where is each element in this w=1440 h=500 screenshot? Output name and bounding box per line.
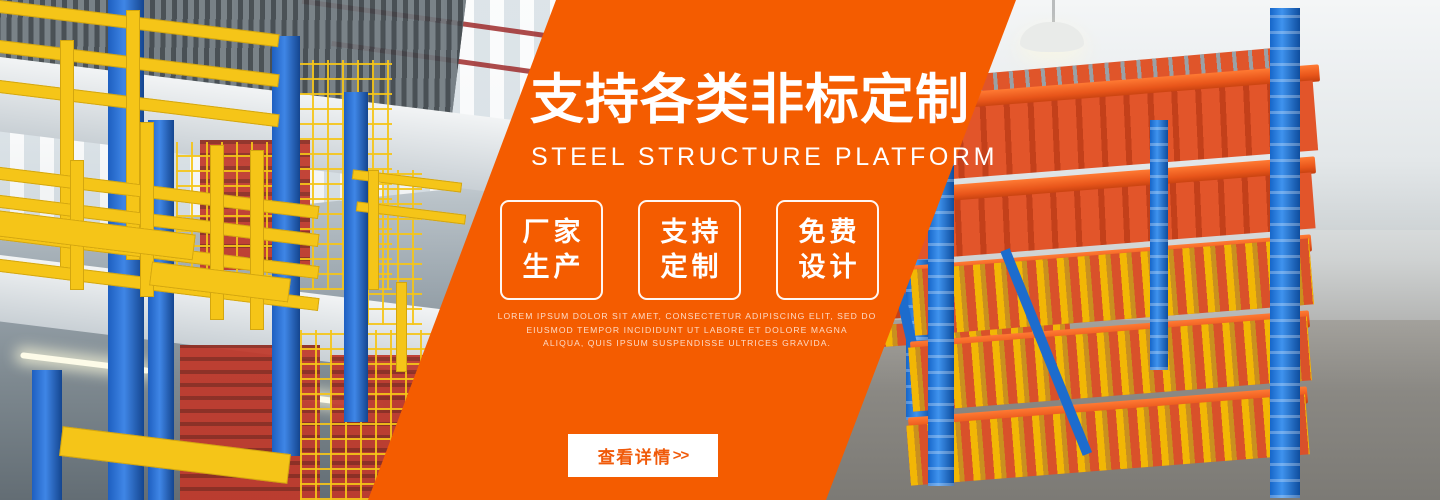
feature-badge-line1: 支持 <box>657 217 723 248</box>
feature-badge-free-design: 免费 设计 <box>776 200 879 300</box>
double-chevron-right-icon: >> <box>673 447 689 464</box>
view-details-button[interactable]: 查看详情 >> <box>568 434 718 477</box>
promo-banner: 支持各类非标定制 STEEL STRUCTURE PLATFORM 厂家 生产 … <box>0 0 1440 500</box>
feature-badge-line1: 厂家 <box>519 217 585 248</box>
description-text: LOREM IPSUM DOLOR SIT AMET, CONSECTETUR … <box>490 310 884 351</box>
view-details-label: 查看详情 <box>598 443 672 468</box>
banner-content: 支持各类非标定制 STEEL STRUCTURE PLATFORM 厂家 生产 … <box>0 0 1440 500</box>
page-title: 支持各类非标定制 <box>530 72 1000 128</box>
feature-badge-list: 厂家 生产 支持 定制 免费 设计 <box>500 200 879 300</box>
feature-badge-line2: 生产 <box>519 252 585 283</box>
feature-badge-customization: 支持 定制 <box>638 200 741 300</box>
feature-badge-line2: 设计 <box>795 252 861 283</box>
feature-badge-line1: 免费 <box>795 217 861 248</box>
subtitle: STEEL STRUCTURE PLATFORM <box>531 143 998 172</box>
description-line: ALIQUA, QUIS IPSUM SUSPENDISSE ULTRICES … <box>490 337 884 351</box>
description-line: LOREM IPSUM DOLOR SIT AMET, CONSECTETUR … <box>490 310 884 324</box>
feature-badge-manufacturer: 厂家 生产 <box>500 200 603 300</box>
description-line: EIUSMOD TEMPOR INCIDIDUNT UT LABORE ET D… <box>490 324 884 338</box>
feature-badge-line2: 定制 <box>657 252 723 283</box>
